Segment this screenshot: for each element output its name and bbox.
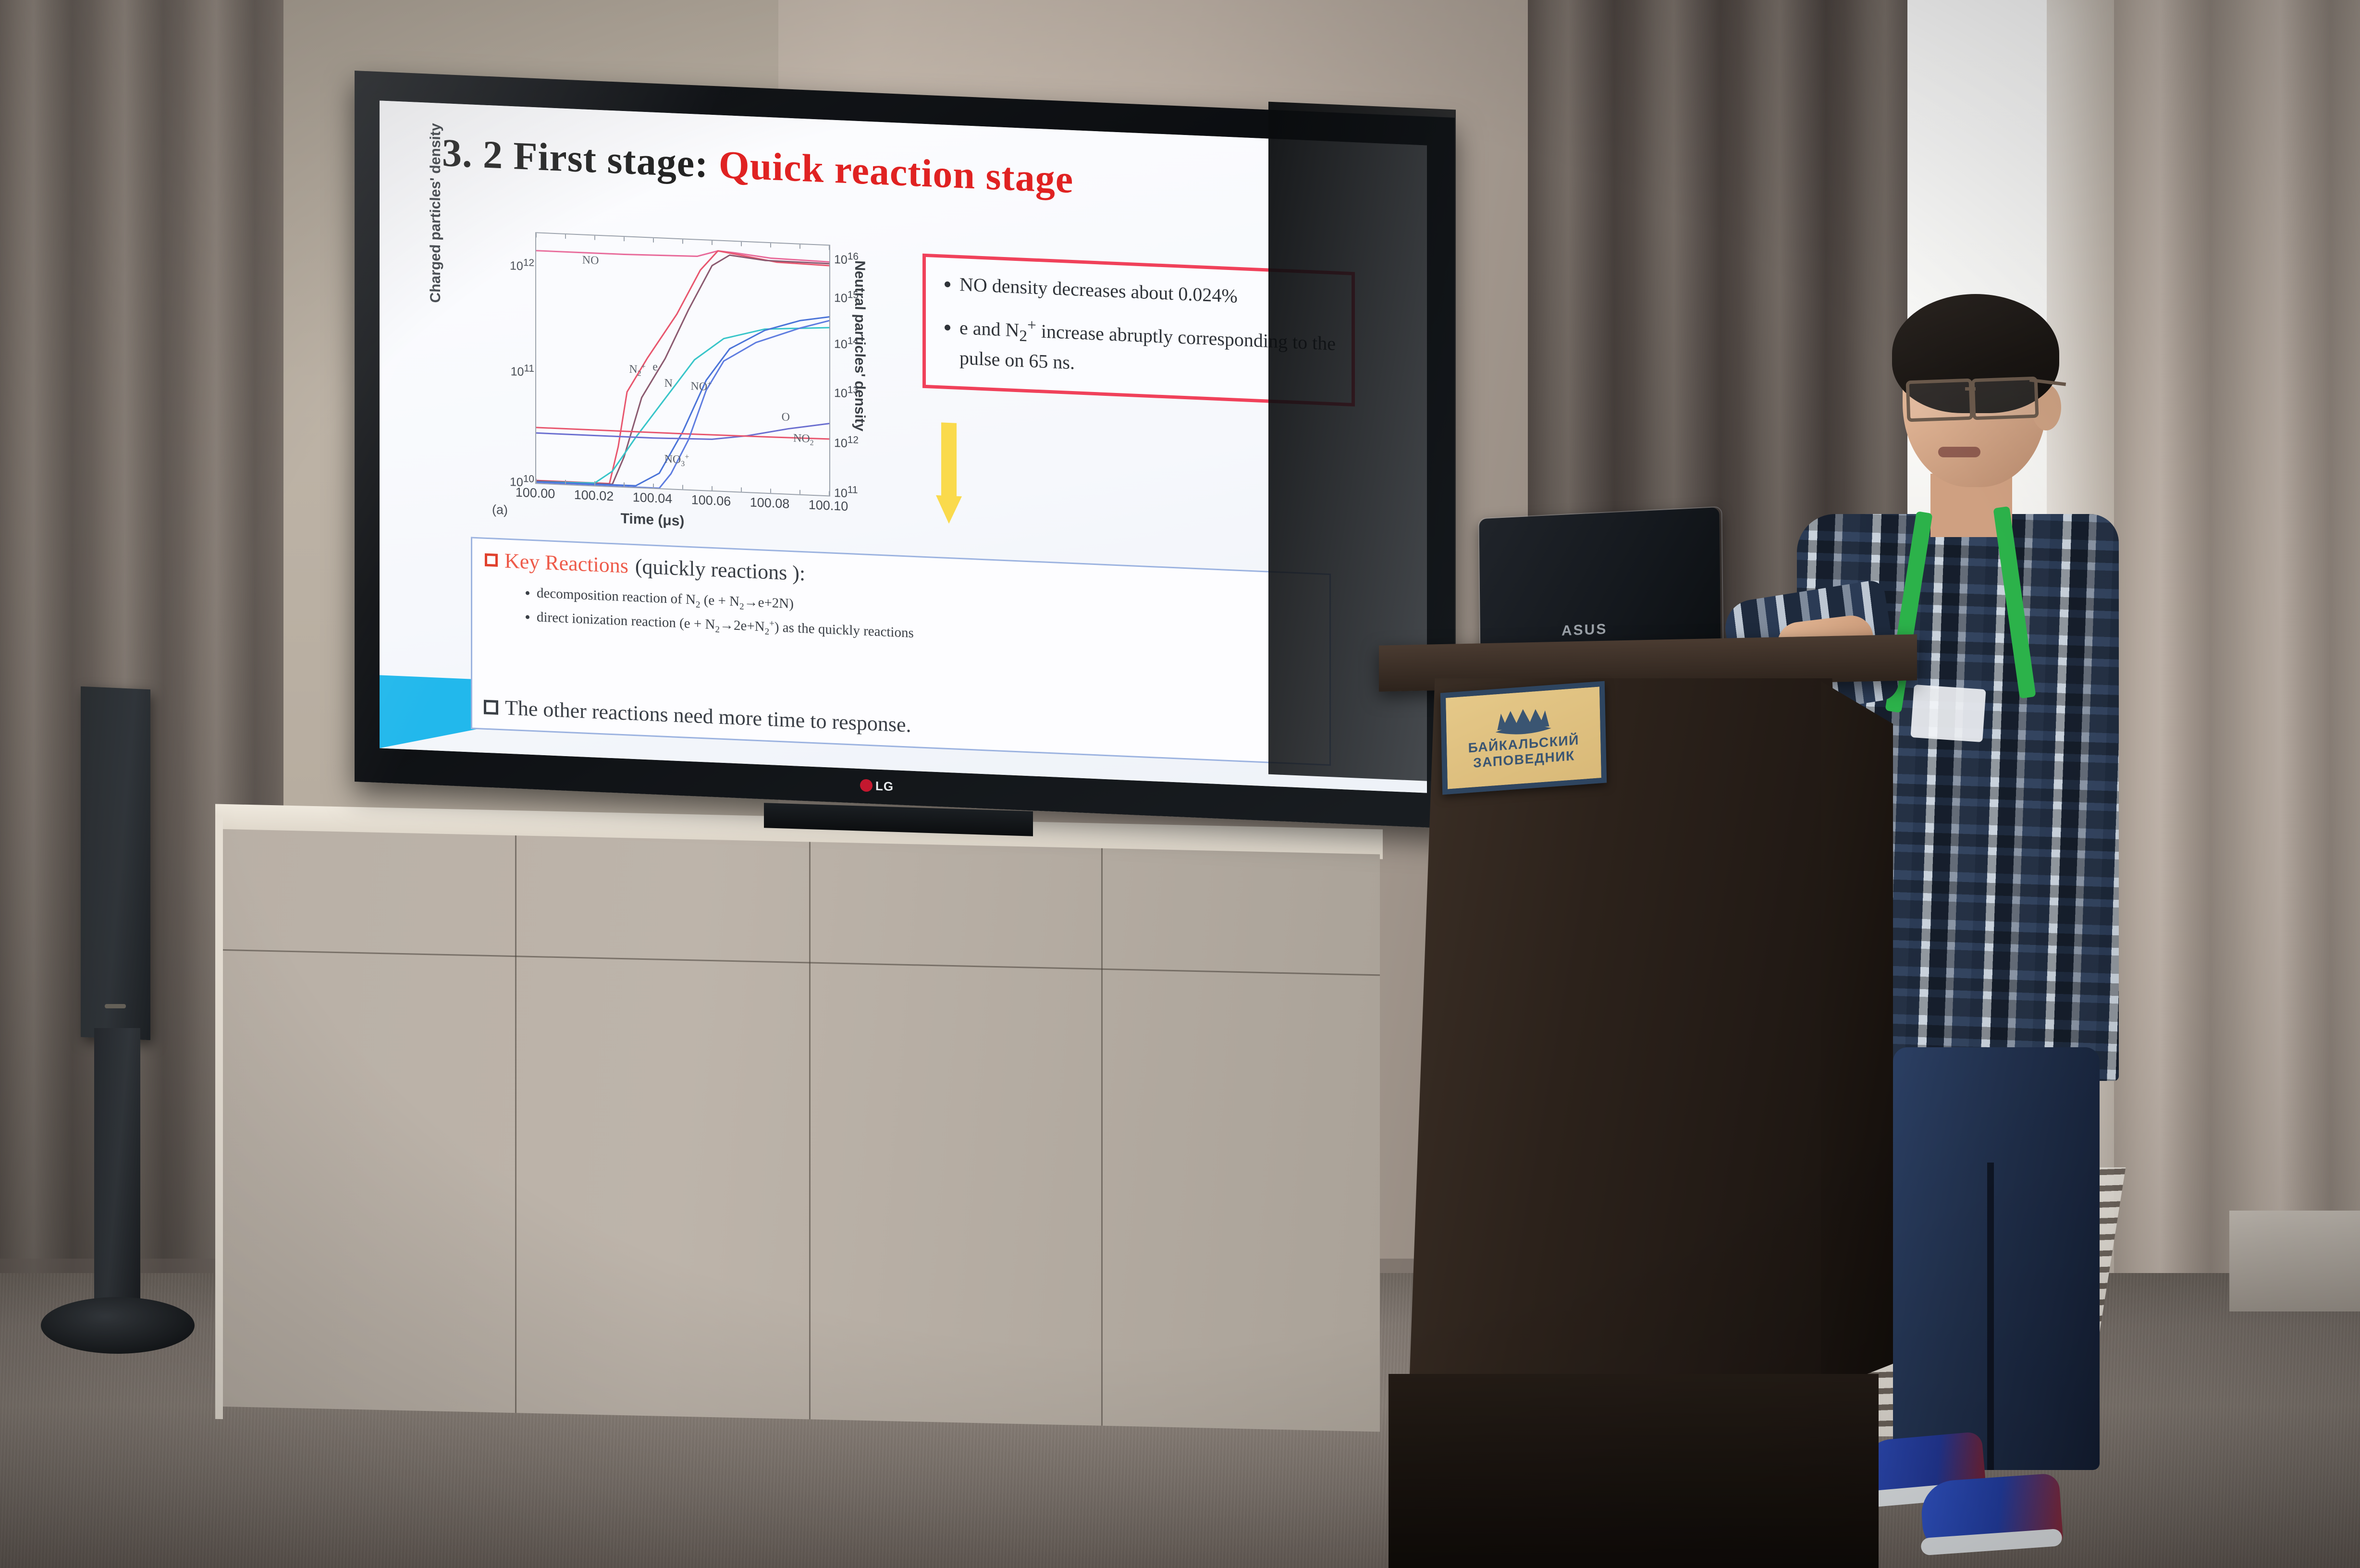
presenter-leg-seam [1987,1163,1994,1470]
cabinet-body [217,829,1380,1432]
podium-base [1389,1374,1879,1568]
crown-trees-icon [1491,707,1555,739]
laptop-brand-logo: ASUS [1561,621,1607,639]
cabinet-edge [215,817,223,1419]
presenter-legs [1893,1047,2100,1470]
podium-emblem: БАЙКАЛЬСКИЙ ЗАПОВЕДНИК [1440,681,1607,795]
speaker-base [41,1297,195,1354]
lg-mark-icon [860,779,873,792]
tv-brand-logo: LG [860,774,922,799]
speaker-cabinet [81,686,150,1041]
chair [2229,1211,2360,1311]
glasses-lens-right-icon [1971,377,2039,420]
presenter-mouth [1938,447,1980,457]
speaker-column [94,1028,140,1321]
name-badge [1910,685,1986,742]
glasses-bridge-icon [1965,387,1976,391]
tv-logo-text: LG [875,778,894,794]
podium-side-panel [1821,681,1893,1392]
glasses-lens-left-icon [1906,379,1974,422]
presentation-room-photo: 3. 2 First stage: Quick reaction stage C… [0,0,2360,1568]
speaker-badge [105,1004,126,1008]
